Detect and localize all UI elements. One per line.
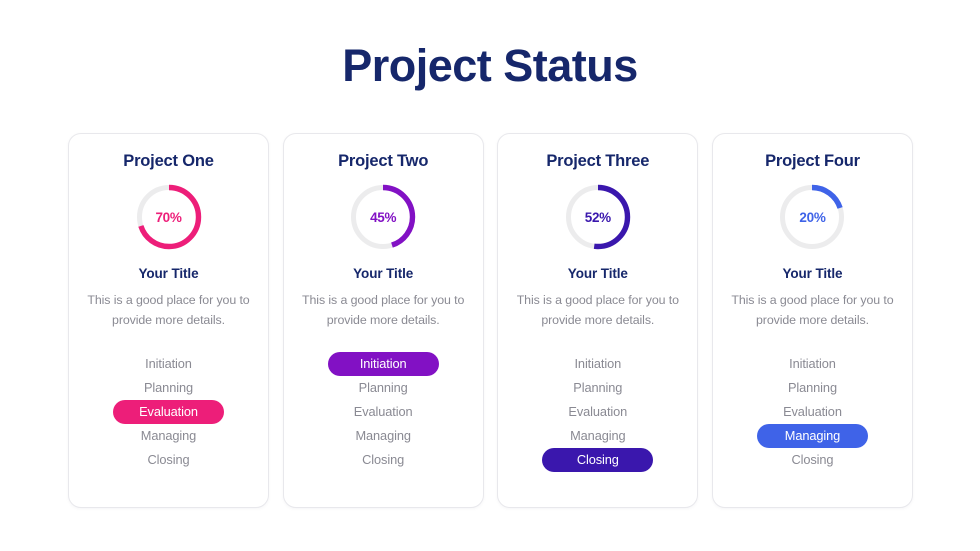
progress-percent-label: 70% [135, 183, 203, 251]
phase-item-evaluation[interactable]: Evaluation [113, 400, 224, 424]
project-cards-row: Project One 70% Your Title This is a goo… [68, 133, 913, 508]
phase-item-initiation[interactable]: Initiation [775, 352, 850, 376]
phase-item-closing[interactable]: Closing [777, 448, 847, 472]
project-card-subtitle: Your Title [568, 265, 628, 282]
phase-item-closing[interactable]: Closing [542, 448, 653, 472]
project-card-4[interactable]: Project Four 20% Your Title This is a go… [712, 133, 913, 508]
project-card-2[interactable]: Project Two 45% Your Title This is a goo… [283, 133, 484, 508]
phase-item-evaluation[interactable]: Evaluation [554, 400, 641, 424]
progress-donut: 52% [564, 183, 632, 251]
project-card-title: Project Two [338, 151, 428, 171]
phase-item-closing[interactable]: Closing [134, 448, 204, 472]
progress-donut: 20% [778, 183, 846, 251]
phase-item-initiation[interactable]: Initiation [560, 352, 635, 376]
project-card-description: This is a good place for you to provide … [508, 290, 688, 330]
progress-percent-label: 52% [564, 183, 632, 251]
phase-item-managing[interactable]: Managing [127, 424, 210, 448]
project-card-3[interactable]: Project Three 52% Your Title This is a g… [497, 133, 698, 508]
phase-item-evaluation[interactable]: Evaluation [769, 400, 856, 424]
project-card-title: Project Three [546, 151, 649, 171]
project-card-title: Project One [123, 151, 213, 171]
progress-donut: 45% [349, 183, 417, 251]
phase-item-initiation[interactable]: Initiation [328, 352, 439, 376]
phase-list: InitiationPlanningEvaluationManagingClos… [69, 352, 268, 472]
project-card-subtitle: Your Title [353, 265, 413, 282]
project-card-1[interactable]: Project One 70% Your Title This is a goo… [68, 133, 269, 508]
phase-item-closing[interactable]: Closing [348, 448, 418, 472]
project-card-description: This is a good place for you to provide … [293, 290, 473, 330]
phase-list: InitiationPlanningEvaluationManagingClos… [284, 352, 483, 472]
phase-item-planning[interactable]: Planning [559, 376, 636, 400]
phase-list: InitiationPlanningEvaluationManagingClos… [713, 352, 912, 472]
progress-percent-label: 45% [349, 183, 417, 251]
project-card-subtitle: Your Title [782, 265, 842, 282]
phase-item-managing[interactable]: Managing [341, 424, 424, 448]
phase-item-evaluation[interactable]: Evaluation [340, 400, 427, 424]
phase-item-initiation[interactable]: Initiation [131, 352, 206, 376]
project-card-subtitle: Your Title [138, 265, 198, 282]
slide-root: Project Status Project One 70% Your Titl… [0, 0, 980, 551]
phase-item-planning[interactable]: Planning [345, 376, 422, 400]
phase-item-managing[interactable]: Managing [757, 424, 868, 448]
phase-item-planning[interactable]: Planning [774, 376, 851, 400]
progress-percent-label: 20% [778, 183, 846, 251]
phase-list: InitiationPlanningEvaluationManagingClos… [498, 352, 697, 472]
phase-item-managing[interactable]: Managing [556, 424, 639, 448]
phase-item-planning[interactable]: Planning [130, 376, 207, 400]
progress-donut: 70% [135, 183, 203, 251]
project-card-description: This is a good place for you to provide … [722, 290, 902, 330]
project-card-description: This is a good place for you to provide … [79, 290, 259, 330]
page-title: Project Status [0, 38, 980, 94]
project-card-title: Project Four [765, 151, 860, 171]
